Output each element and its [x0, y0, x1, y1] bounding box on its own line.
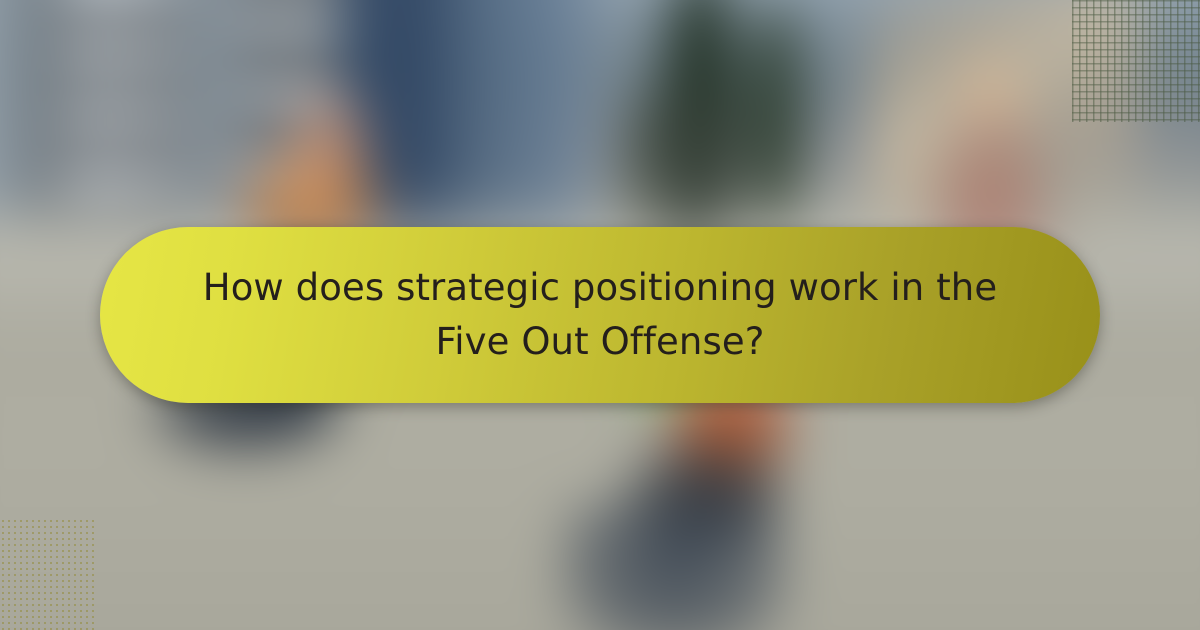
question-pill: How does strategic positioning work in t…	[100, 227, 1100, 403]
question-text: How does strategic positioning work in t…	[170, 261, 1030, 368]
question-card-canvas: How does strategic positioning work in t…	[0, 0, 1200, 630]
player-right-legs	[560, 500, 790, 630]
